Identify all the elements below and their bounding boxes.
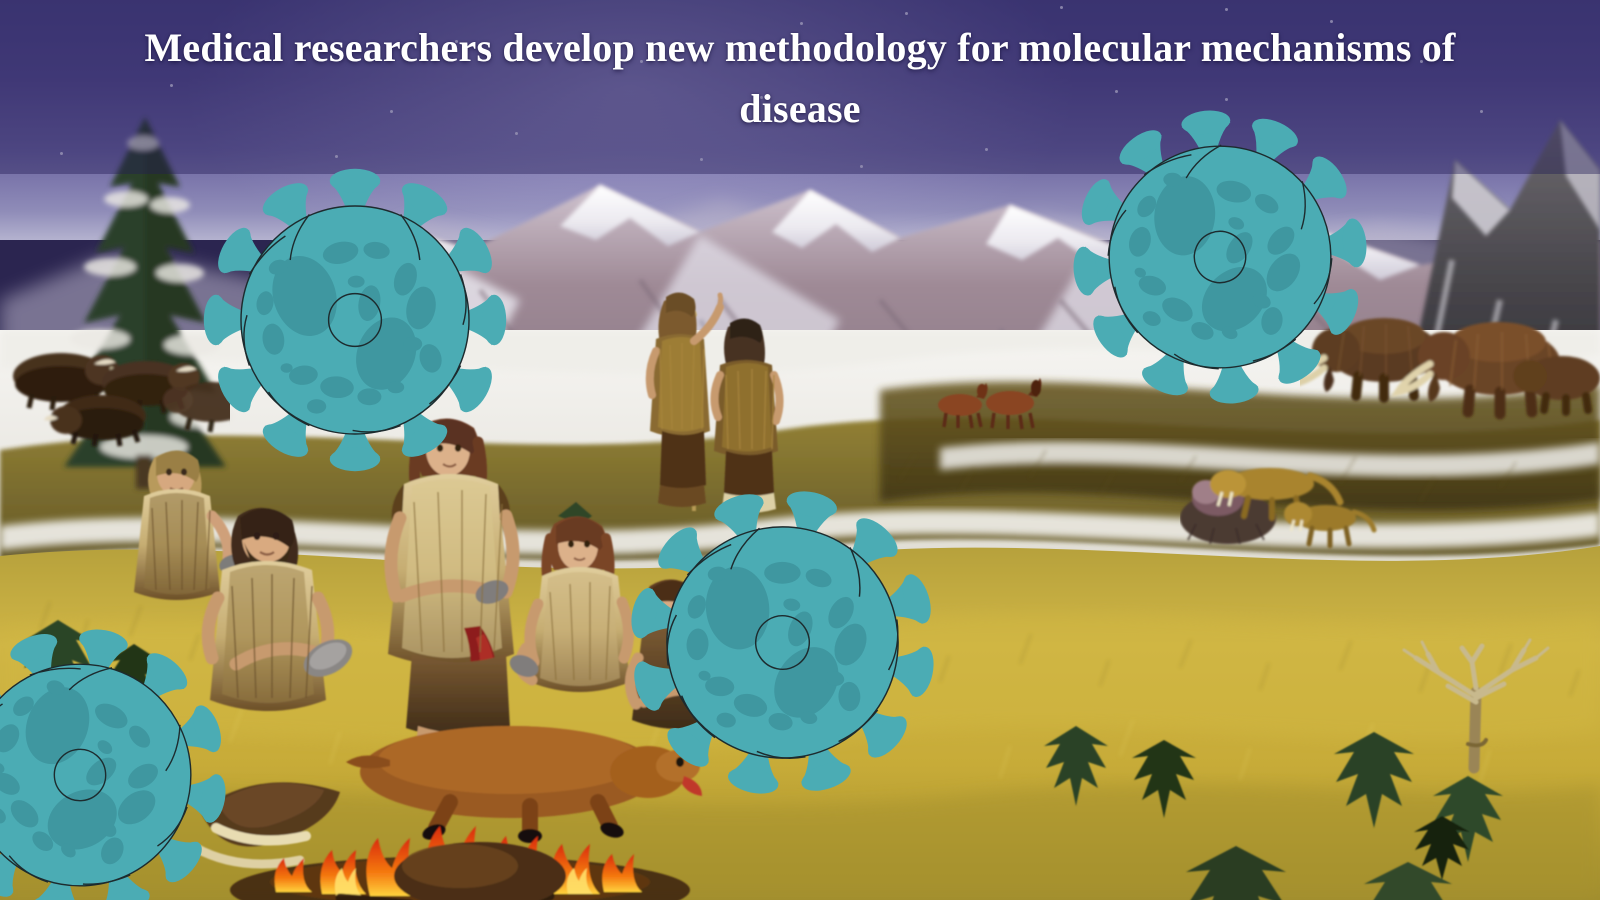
wild-horses (930, 375, 1050, 435)
steppe-shrubs (1000, 590, 1600, 900)
title-line-1: Medical researchers develop new methodol… (144, 25, 1190, 70)
virus-top-left (175, 140, 535, 500)
scene-canvas: Medical researchers develop new methodol… (0, 0, 1600, 900)
virus-center (566, 426, 999, 859)
